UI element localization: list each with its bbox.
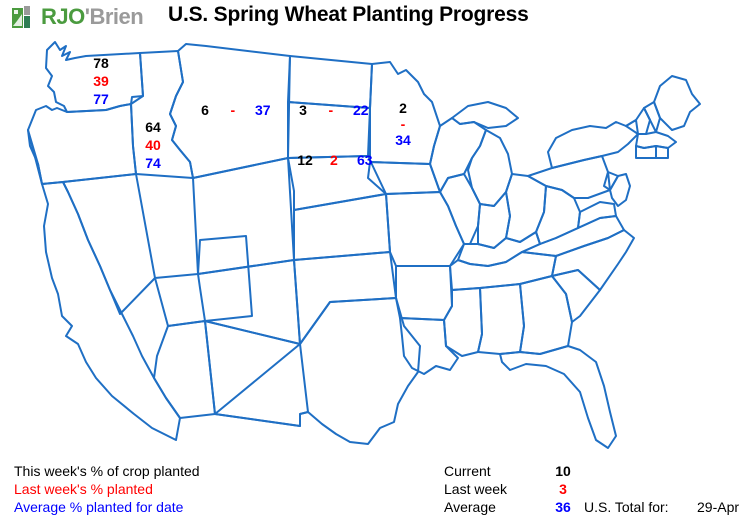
legend-average: Average % planted for date — [14, 498, 200, 516]
summary-last-week-value: 3 — [552, 480, 574, 498]
state-north-dakota — [288, 56, 372, 108]
washington-current: 78 — [84, 54, 118, 72]
minnesota-last-week: - — [389, 116, 417, 132]
state-new-jersey — [610, 174, 630, 206]
us-total-for-label: U.S. Total for: — [584, 498, 669, 516]
us-map-container: 78 39 77 64 40 74 6 - 37 3 - 22 2 - 34 1… — [0, 26, 756, 466]
state-mississippi — [444, 288, 482, 356]
state-data-south-dakota: 12 2 63 — [294, 152, 378, 168]
south-dakota-last-week: 2 — [320, 152, 348, 168]
state-delaware — [604, 172, 618, 190]
minnesota-average: 34 — [389, 132, 417, 148]
state-michigan-upper-peninsula — [452, 102, 518, 128]
state-georgia — [520, 276, 572, 354]
idaho-average: 74 — [136, 154, 170, 172]
summary-current-value: 10 — [552, 462, 574, 480]
map-page: RJO'Brien U.S. Spring Wheat Planting Pro… — [0, 0, 756, 516]
page-title: U.S. Spring Wheat Planting Progress — [168, 3, 529, 27]
state-rhode-island — [656, 146, 668, 158]
montana-current: 6 — [196, 102, 214, 118]
state-new-hampshire — [644, 102, 660, 132]
state-data-montana: 6 - 37 — [196, 102, 274, 118]
state-florida — [500, 346, 616, 448]
south-dakota-current: 12 — [294, 152, 316, 168]
state-data-washington: 78 39 77 — [84, 54, 118, 108]
state-texas — [215, 298, 420, 444]
south-dakota-average: 63 — [352, 152, 378, 168]
state-south-carolina — [552, 270, 600, 322]
state-tennessee — [450, 252, 556, 290]
state-west-virginia — [536, 186, 580, 244]
legend-last-week: Last week's % planted — [14, 480, 200, 498]
state-kansas — [294, 194, 390, 260]
legend-current-week: This week's % of crop planted — [14, 462, 200, 480]
state-oregon — [28, 104, 136, 184]
north-dakota-last-week: - — [316, 102, 346, 118]
summary-average-label: Average — [444, 498, 496, 516]
state-maryland — [578, 202, 616, 228]
us-total-for-date: 29-Apr — [697, 498, 739, 516]
summary-last-week-label: Last week — [444, 480, 507, 498]
legend: This week's % of crop planted Last week'… — [14, 462, 200, 516]
north-dakota-current: 3 — [294, 102, 312, 118]
state-data-idaho: 64 40 74 — [136, 118, 170, 172]
state-illinois — [440, 174, 480, 244]
state-ohio — [506, 174, 546, 242]
state-louisiana — [400, 318, 458, 374]
state-maine — [654, 76, 700, 130]
state-wisconsin — [430, 118, 486, 192]
minnesota-current: 2 — [389, 100, 417, 116]
state-north-carolina — [552, 230, 634, 290]
north-dakota-average: 22 — [350, 102, 372, 118]
montana-last-week: - — [218, 102, 248, 118]
state-new-york — [548, 120, 638, 168]
state-data-minnesota: 2 - 34 — [389, 100, 417, 148]
washington-average: 77 — [84, 90, 118, 108]
washington-last-week: 39 — [84, 72, 118, 90]
state-data-north-dakota: 3 - 22 — [294, 102, 372, 118]
state-connecticut — [636, 146, 656, 158]
idaho-last-week: 40 — [136, 136, 170, 154]
idaho-current: 64 — [136, 118, 170, 136]
state-nevada — [63, 174, 155, 314]
state-alabama — [478, 284, 524, 354]
summary-average-value: 36 — [552, 498, 574, 516]
state-arkansas — [396, 266, 452, 320]
state-wyoming — [193, 158, 294, 274]
montana-average: 37 — [252, 102, 274, 118]
state-missouri — [386, 192, 464, 266]
summary-current-label: Current — [444, 462, 491, 480]
state-pennsylvania — [528, 156, 610, 198]
